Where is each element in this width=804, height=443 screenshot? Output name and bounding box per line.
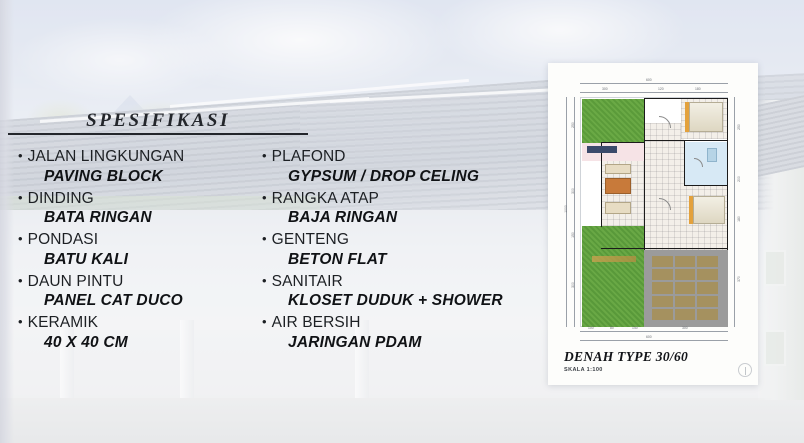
coffee-table [605,164,631,174]
spec-label-text: RANGKA ATAP [272,190,379,207]
bullet-icon: • [18,273,23,288]
wall-front [601,142,645,143]
dining-table [605,202,631,214]
wall-partition-h1 [644,140,684,141]
shower-fixture [707,148,717,162]
paver [652,282,673,293]
paver [652,269,673,280]
wall-partition-v2 [684,140,685,186]
dim-line-right [734,97,735,327]
spec-value: KLOSET DUDUK + SHOWER [262,291,540,311]
paver [697,296,718,307]
spec-value: BATU KALI [18,250,262,270]
wall-partition-h3 [684,185,728,186]
spec-item-rangka-atap: •RANGKA ATAP BAJA RINGAN [262,188,540,229]
dim-line-left-2 [574,97,575,327]
paver [697,282,718,293]
paver [652,296,673,307]
bullet-icon: • [18,231,23,246]
paver [675,296,696,307]
spec-item-air-bersih: •AIR BERSIH JARINGAN PDAM [262,312,540,353]
wall-outer-left [601,143,602,227]
carport [644,250,728,327]
spec-item-genteng: •GENTENG BETON FLAT [262,229,540,270]
floorplan-card: 600 300 120 180 1000 250 300 150 300 250… [548,63,758,385]
specification-panel: SPESIFIKASI •JALAN LINGKUNGAN PAVING BLO… [0,110,540,354]
spec-label-text: JALAN LINGKUNGAN [28,148,185,165]
dim-top-overall: 600 [646,78,652,82]
dim-left-overall: 1000 [564,205,568,213]
spec-label: •PONDASI [18,229,262,250]
wall-outer-right [727,98,728,250]
specification-column-left: •JALAN LINGKUNGAN PAVING BLOCK •DINDING … [0,146,262,354]
bullet-icon: • [262,190,267,205]
spec-value: GYPSUM / DROP CELING [262,167,540,187]
paver [697,256,718,267]
sofa [605,178,631,194]
floorplan-title: DENAH TYPE 30/60 [564,349,749,365]
dim-right-4: 370 [737,276,741,282]
paver [675,269,696,280]
spec-label-text: PLAFOND [272,148,346,165]
spec-label: •SANITAIR [262,271,540,292]
spec-item-pondasi: •PONDASI BATU KALI [18,229,262,270]
paver [675,256,696,267]
spec-label-text: GENTENG [272,231,349,248]
spec-value: PANEL CAT DUCO [18,291,262,311]
spec-label-text: SANITAIR [272,273,343,290]
spec-item-jalan-lingkungan: •JALAN LINGKUNGAN PAVING BLOCK [18,146,262,187]
dim-top-1: 300 [602,87,608,91]
dim-bottom-2: 80 [610,326,614,330]
specification-heading: SPESIFIKASI [8,110,308,135]
specification-columns: •JALAN LINGKUNGAN PAVING BLOCK •DINDING … [0,146,540,354]
dim-left-3: 150 [571,232,575,238]
spec-item-dinding: •DINDING BATA RINGAN [18,188,262,229]
floorplan-drawing: 600 300 120 180 1000 250 300 150 300 250… [562,77,744,335]
rear-garden [582,226,644,327]
dim-right-2: 200 [737,176,741,182]
spec-item-sanitair: •SANITAIR KLOSET DUDUK + SHOWER [262,271,540,312]
slide-canvas: SPESIFIKASI •JALAN LINGKUNGAN PAVING BLO… [0,0,804,443]
spec-label: •RANGKA ATAP [262,188,540,209]
paver [675,282,696,293]
bullet-icon: • [262,231,267,246]
spec-label: •DINDING [18,188,262,209]
dim-line-bottom [580,331,728,332]
specification-column-right: •PLAFOND GYPSUM / DROP CELING •RANGKA AT… [262,146,540,354]
spec-item-keramik: •KERAMIK 40 X 40 CM [18,312,262,353]
bullet-icon: • [262,148,267,163]
bed-headboard [685,102,689,132]
dim-right-1: 250 [737,124,741,130]
spec-value: PAVING BLOCK [18,167,262,187]
spec-label: •JALAN LINGKUNGAN [18,146,262,167]
spec-label-text: AIR BERSIH [272,314,361,331]
wall-outer-top [644,98,728,99]
dim-line-bottom-2 [580,340,728,341]
spec-label: •KERAMIK [18,312,262,333]
spec-label: •AIR BERSIH [262,312,540,333]
spec-label: •DAUN PINTU [18,271,262,292]
spec-value: BETON FLAT [262,250,540,270]
bullet-icon: • [18,190,23,205]
bullet-icon: • [18,314,23,329]
wall-partition-h2 [684,140,728,141]
spec-label-text: DAUN PINTU [28,273,124,290]
dim-bottom-overall: 600 [646,335,652,339]
dim-line-top-2 [580,92,728,93]
spec-label-text: KERAMIK [28,314,98,331]
paving-block-grid [652,256,718,320]
bullet-icon: • [262,314,267,329]
dim-left-4: 300 [571,282,575,288]
bullet-icon: • [18,148,23,163]
dim-top-3: 180 [695,87,701,91]
wall-partition-v1 [644,98,645,250]
dim-right-3: 180 [737,216,741,222]
floorplan-caption: DENAH TYPE 30/60 SKALA 1:100 [564,349,749,373]
floorplan-scale: SKALA 1:100 [564,367,749,373]
dim-bottom-1: 100 [588,326,594,330]
spec-label-text: PONDASI [28,231,98,248]
bullet-icon: • [262,273,267,288]
dim-left-1: 250 [571,122,575,128]
north-arrow-icon [738,363,752,377]
spec-value: BAJA RINGAN [262,208,540,228]
spec-value: 40 X 40 CM [18,333,262,353]
paver [652,256,673,267]
paver [675,309,696,320]
dim-left-2: 300 [571,188,575,194]
floorplan-body [580,97,728,327]
bed-second-headboard [689,196,693,224]
spec-label: •PLAFOND [262,146,540,167]
spec-item-daun-pintu: •DAUN PINTU PANEL CAT DUCO [18,271,262,312]
spec-value: BATA RINGAN [18,208,262,228]
dim-line-top [580,83,728,84]
paver [652,309,673,320]
bed-second [693,196,725,224]
spec-label-text: DINDING [28,190,94,207]
paver [697,309,718,320]
bed-master [689,102,723,132]
spec-item-plafond: •PLAFOND GYPSUM / DROP CELING [262,146,540,187]
dim-bottom-3: 140 [632,326,638,330]
dim-bottom-4: 300 [682,326,688,330]
spec-label: •GENTENG [262,229,540,250]
dim-top-2: 120 [658,87,664,91]
kitchen-counter [587,146,617,153]
paver [697,269,718,280]
front-lawn [582,99,644,143]
spec-value: JARINGAN PDAM [262,333,540,353]
